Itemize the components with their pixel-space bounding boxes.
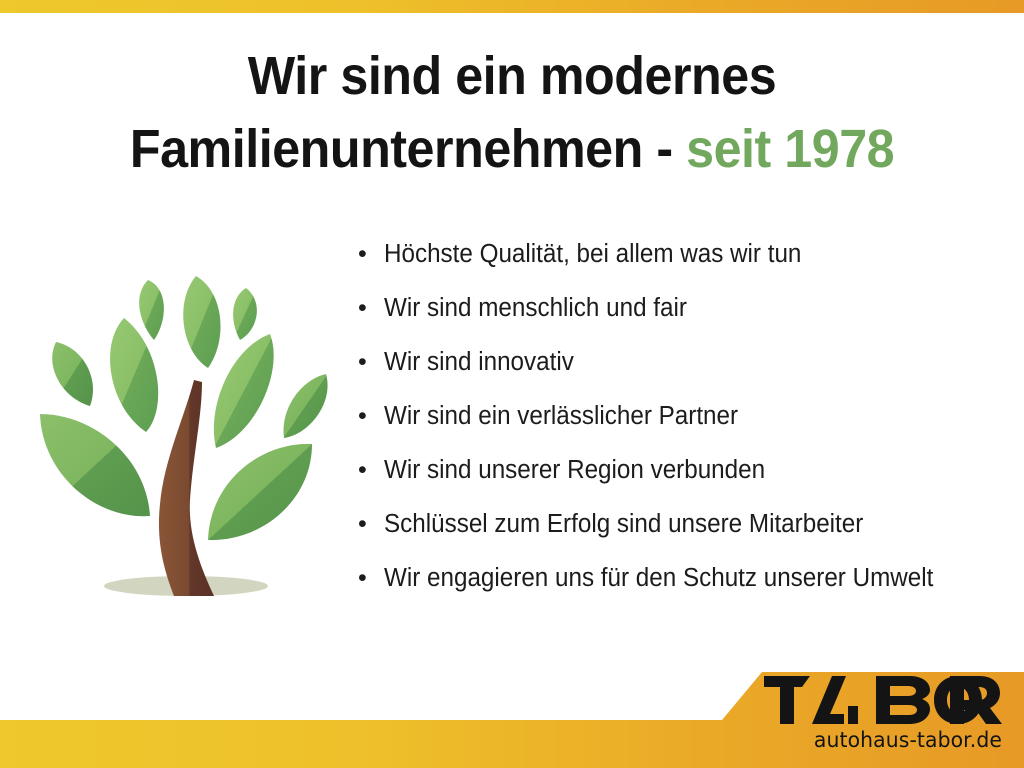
slide-canvas: Wir sind ein modernes Familienunternehme…	[0, 0, 1024, 768]
list-item: • Wir sind innovativ	[358, 350, 1018, 404]
list-item-label: Wir engagieren uns für den Schutz unsere…	[384, 566, 933, 592]
list-item: • Wir engagieren uns für den Schutz unse…	[358, 566, 1018, 620]
bullet-marker-icon: •	[358, 404, 384, 429]
logo-tagline: autohaus-tabor.de	[771, 728, 1002, 752]
tree-illustration	[18, 248, 358, 608]
bullet-marker-icon: •	[358, 458, 384, 483]
list-item-label: Wir sind unserer Region verbunden	[384, 458, 765, 484]
leaf-top-center	[183, 276, 220, 368]
list-item: • Wir sind menschlich und fair	[358, 296, 1018, 350]
list-item-label: Wir sind innovativ	[384, 350, 574, 376]
logo-wordmark	[764, 676, 1002, 724]
headline-accent: seit 1978	[686, 119, 894, 179]
top-gradient-bar	[0, 0, 1024, 13]
headline-line-2-main: Familienunternehmen -	[130, 119, 686, 179]
leaf-mid-right-large	[214, 334, 274, 448]
list-item: • Wir sind unserer Region verbunden	[358, 458, 1018, 512]
page-title: Wir sind ein modernes Familienunternehme…	[36, 40, 988, 187]
bullet-marker-icon: •	[358, 350, 384, 375]
leaf-mid-right-small	[283, 374, 327, 438]
list-item-label: Schlüssel zum Erfolg sind unsere Mitarbe…	[384, 512, 863, 538]
list-item-label: Wir sind ein verlässlicher Partner	[384, 404, 738, 430]
list-item-label: Höchste Qualität, bei allem was wir tun	[384, 242, 801, 268]
leaf-top-left-small	[139, 280, 164, 340]
bullet-marker-icon: •	[358, 566, 384, 591]
leaf-top-right-small	[233, 288, 257, 340]
headline-line-2: Familienunternehmen - seit 1978	[36, 113, 988, 186]
bullet-marker-icon: •	[358, 512, 384, 537]
bullet-marker-icon: •	[358, 242, 384, 267]
bottom-brand-bar: autohaus-tabor.de	[0, 646, 1024, 768]
brand-logo[interactable]: autohaus-tabor.de	[764, 676, 1002, 752]
values-bullet-list: • Höchste Qualität, bei allem was wir tu…	[358, 242, 1018, 620]
leaf-lower-left-large	[40, 414, 150, 516]
leaf-lower-right-large	[208, 444, 312, 540]
list-item: • Höchste Qualität, bei allem was wir tu…	[358, 242, 1018, 296]
list-item: • Wir sind ein verlässlicher Partner	[358, 404, 1018, 458]
headline-line-1: Wir sind ein modernes	[36, 40, 988, 113]
bullet-marker-icon: •	[358, 296, 384, 321]
tree-trunk	[159, 380, 214, 596]
list-item-label: Wir sind menschlich und fair	[384, 296, 687, 322]
leaf-mid-left-small	[52, 342, 93, 406]
list-item: • Schlüssel zum Erfolg sind unsere Mitar…	[358, 512, 1018, 566]
